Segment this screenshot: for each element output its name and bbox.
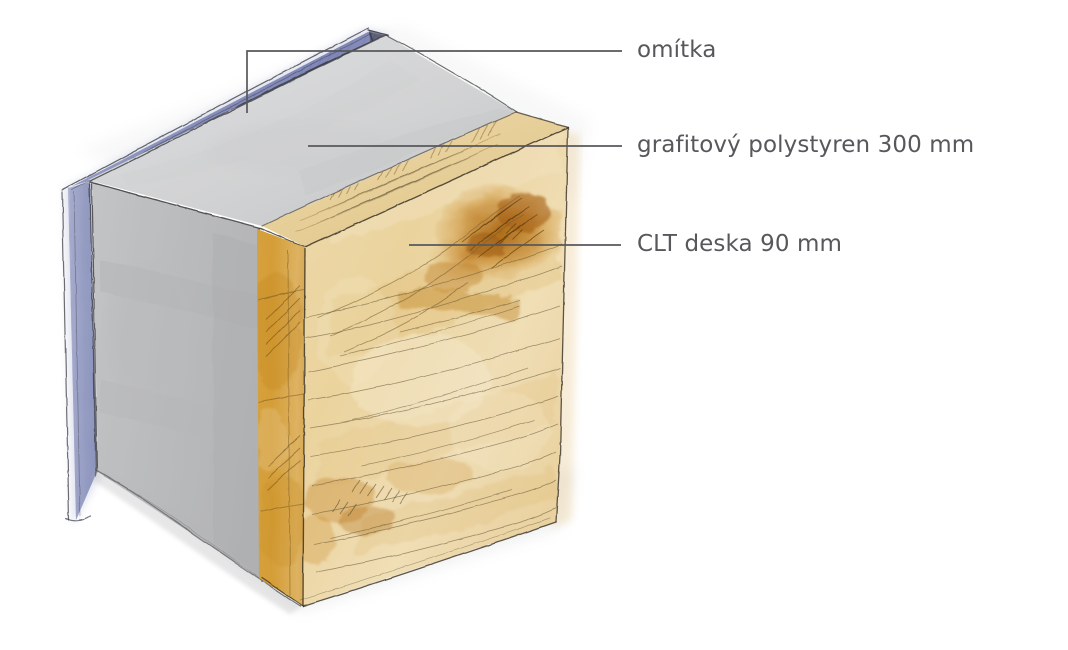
callout-label-clt-deska: CLT deska 90 mm bbox=[637, 233, 842, 256]
callout-label-grafitovy-polystyren: grafitový polystyren 300 mm bbox=[637, 134, 974, 157]
callout-label-omitka: omítka bbox=[637, 39, 717, 62]
diagram-canvas: omítka grafitový polystyren 300 mm CLT d… bbox=[0, 0, 1068, 650]
wall-assembly-illustration bbox=[0, 0, 1068, 650]
